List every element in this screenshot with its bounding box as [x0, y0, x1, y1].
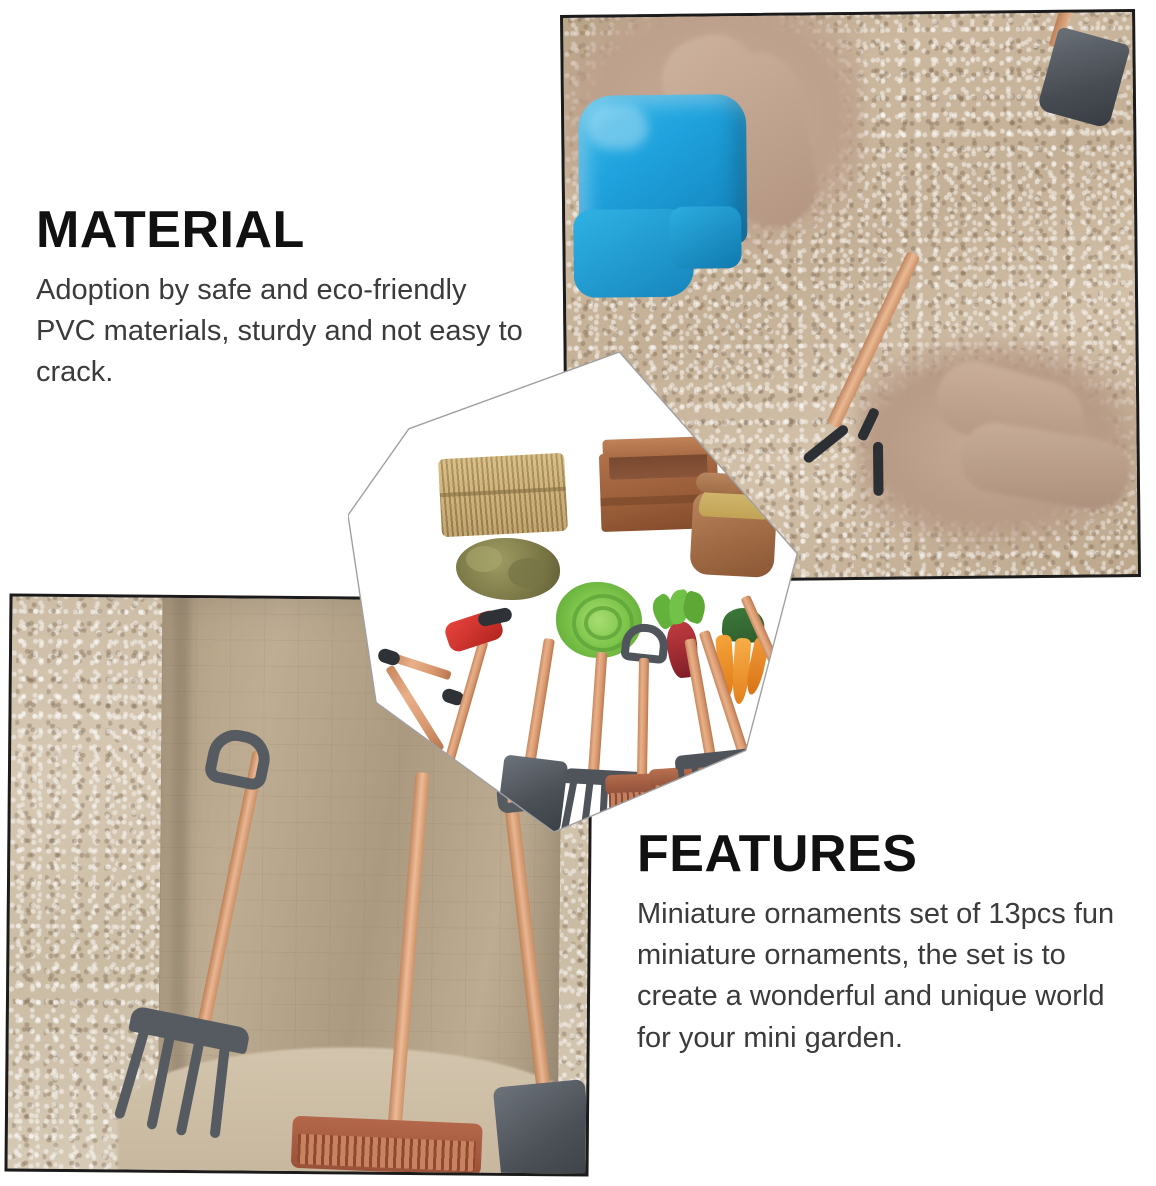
mini-pitchfork-tines [110, 1005, 251, 1145]
garden-fork-tines [751, 680, 830, 762]
infographic-page: MATERIAL Adoption by safe and eco-friend… [0, 0, 1156, 1186]
mini-broom-head [291, 1116, 483, 1174]
broom-head [648, 762, 755, 819]
hay-bale [438, 453, 568, 537]
material-heading: MATERIAL [36, 204, 526, 256]
mini-pitchfork-d-grip [202, 725, 275, 798]
blue-sand-mould [572, 88, 752, 300]
material-section: MATERIAL Adoption by safe and eco-friend… [36, 204, 526, 394]
features-heading: FEATURES [637, 828, 1137, 880]
leaf-rake [678, 628, 802, 834]
garden-fork [744, 592, 830, 768]
material-body: Adoption by safe and eco-friendly PVC ma… [36, 270, 526, 394]
features-body: Miniature ornaments set of 13pcs fun min… [637, 894, 1137, 1059]
rake-tines [674, 744, 797, 832]
mini-shovel-blade-2 [493, 1079, 591, 1174]
features-section: FEATURES Miniature ornaments set of 13pc… [637, 828, 1137, 1059]
moss-clump [456, 538, 560, 600]
